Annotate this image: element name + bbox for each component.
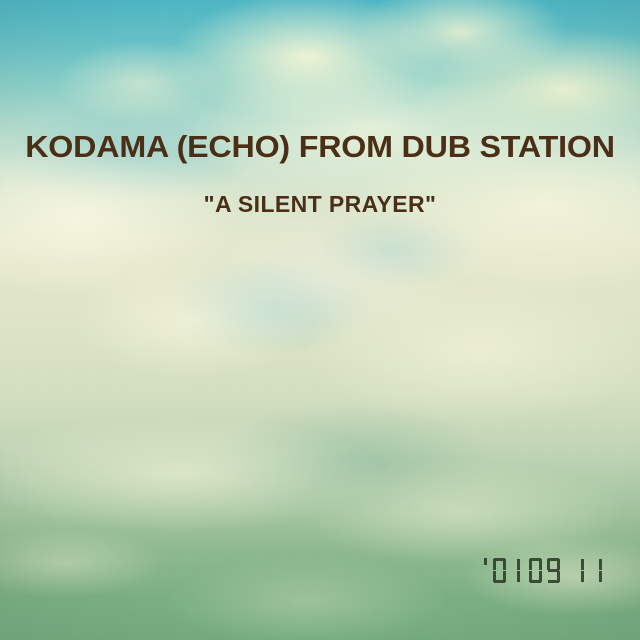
vignette-overlay (0, 0, 640, 640)
date-stamp-digit-1a (510, 558, 525, 583)
album-cover: KODAMA (ECHO) FROM DUB STATION "A SILENT… (0, 0, 640, 640)
cloud-layer-lower (0, 0, 640, 640)
film-grain-overlay (0, 0, 640, 640)
cloud-layer-blue-patches (0, 0, 640, 640)
date-stamp-digit-0a (492, 558, 507, 583)
cloud-layer-upper (0, 0, 640, 640)
album-title: KODAMA (ECHO) FROM DUB STATION (0, 131, 640, 162)
date-stamp-digit-0b (528, 558, 543, 583)
date-stamp-digit-9 (546, 558, 561, 583)
album-subtitle: "A SILENT PRAYER" (0, 193, 640, 216)
date-stamp-digit-1c (592, 558, 607, 583)
cloud-layer-middle (0, 0, 640, 640)
film-date-stamp (483, 558, 607, 583)
date-stamp-apostrophe (483, 558, 489, 583)
date-stamp-digit-1b (574, 558, 589, 583)
date-stamp-separator (564, 558, 571, 583)
